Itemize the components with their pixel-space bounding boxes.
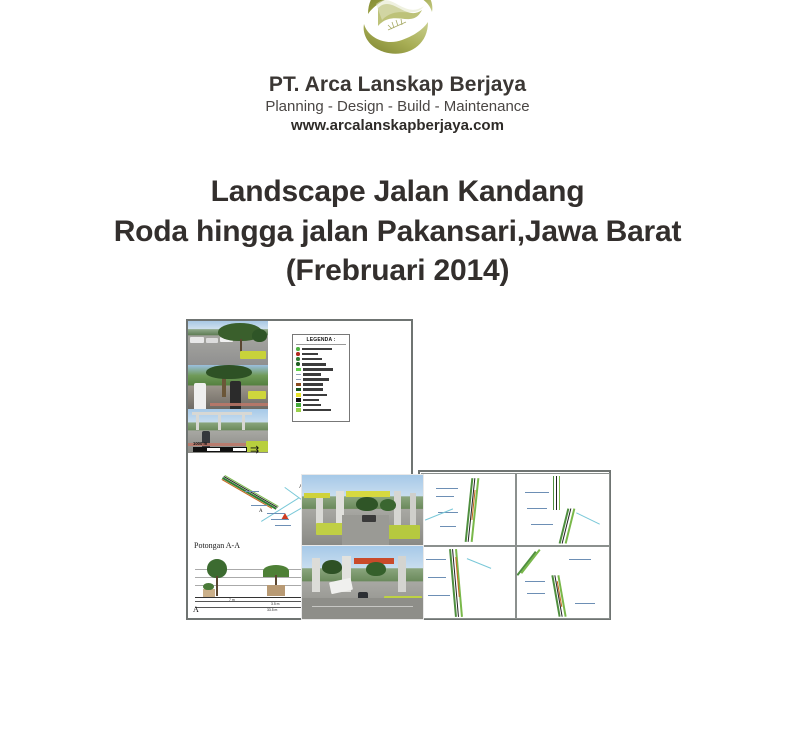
page-title-line-2: Roda hingga jalan Pakansari,Jawa Barat (0, 212, 795, 252)
scale-bar: 1000 m (193, 441, 247, 452)
plan-sheet (516, 546, 611, 619)
arca-lanskap-leaf-logo (348, 0, 448, 68)
legend-label (303, 394, 327, 397)
page-title-line-3: (Frebruari 2014) (0, 251, 795, 291)
legend-swatch (296, 408, 301, 411)
legend-label (302, 363, 326, 366)
company-website: www.arcalanskapberjaya.com (0, 117, 795, 135)
legend-swatch (296, 393, 301, 396)
legend-swatch (296, 398, 301, 401)
legend-swatch (296, 403, 301, 406)
legend-item (296, 393, 346, 397)
legend-item (296, 403, 346, 407)
legend-swatch (296, 388, 301, 391)
section-title: Potongan A-A (194, 541, 240, 550)
legend-item (296, 362, 346, 366)
dimension-label: 33.5 m (267, 608, 277, 612)
scale-bar-graphic (193, 447, 247, 452)
plan-sheet (421, 546, 516, 619)
render-parking-lot (188, 321, 268, 365)
legend-swatch (296, 383, 301, 386)
section-end-mark-left: A (193, 605, 199, 614)
project-presentation-boards: LEGENDA : (186, 319, 611, 620)
master-plan-board: LEGENDA : (186, 319, 413, 470)
plan-sheet (516, 473, 611, 546)
legend-swatch (296, 362, 300, 366)
render-flyover-pedestrian (301, 545, 424, 620)
legend-label (303, 378, 329, 381)
render-flyover-gateway (301, 474, 424, 546)
page-title-line-1: Landscape Jalan Kandang (0, 172, 795, 212)
company-tagline: Planning - Design - Build - Maintenance (0, 98, 795, 115)
slide-page: PT. Arca Lanskap Berjaya Planning - Desi… (0, 0, 795, 620)
legend-label (303, 399, 319, 402)
legend-item (296, 347, 346, 351)
legend-label (303, 383, 323, 386)
plan-sheet-grid (421, 473, 610, 619)
legend-item (296, 372, 346, 376)
north-arrow-icon: ⇉ (250, 443, 259, 456)
legend-swatch (296, 357, 300, 361)
legend-label (303, 409, 331, 412)
legend-label (302, 353, 318, 356)
render-pedestrians-sidewalk (188, 365, 268, 409)
legend-swatch (296, 379, 301, 380)
legend-box: LEGENDA : (292, 334, 350, 422)
legend-swatch (296, 347, 300, 351)
legend-item (296, 352, 346, 356)
legend-title: LEGENDA : (296, 337, 346, 345)
legend-swatch (296, 352, 300, 356)
section-mark-a-bottom: A (259, 509, 263, 514)
company-name: PT. Arca Lanskap Berjaya (0, 73, 795, 96)
legend-item (296, 383, 346, 387)
legend-item (296, 408, 346, 412)
legend-item (296, 388, 346, 392)
legend-label (302, 348, 332, 351)
legend-swatch (296, 374, 301, 375)
legend-item (296, 357, 346, 361)
dimension-label: 7 m (229, 598, 235, 602)
legend-label (303, 388, 323, 391)
brand-header: PT. Arca Lanskap Berjaya Planning - Desi… (0, 0, 795, 135)
legend-label (302, 358, 322, 361)
legend-swatch (296, 368, 301, 371)
legend-item (296, 378, 346, 382)
legend-label (303, 404, 321, 407)
legend-item (296, 367, 346, 371)
legend-label (303, 373, 321, 376)
legend-item (296, 398, 346, 402)
dimension-label: 3.5 m (271, 602, 279, 606)
planting-plan-sheets-board (418, 470, 611, 620)
scale-bar-label: 1000 m (193, 441, 247, 446)
page-title: Landscape Jalan Kandang Roda hingga jala… (0, 172, 795, 291)
plan-sheet (421, 473, 516, 546)
legend-label (303, 368, 333, 371)
